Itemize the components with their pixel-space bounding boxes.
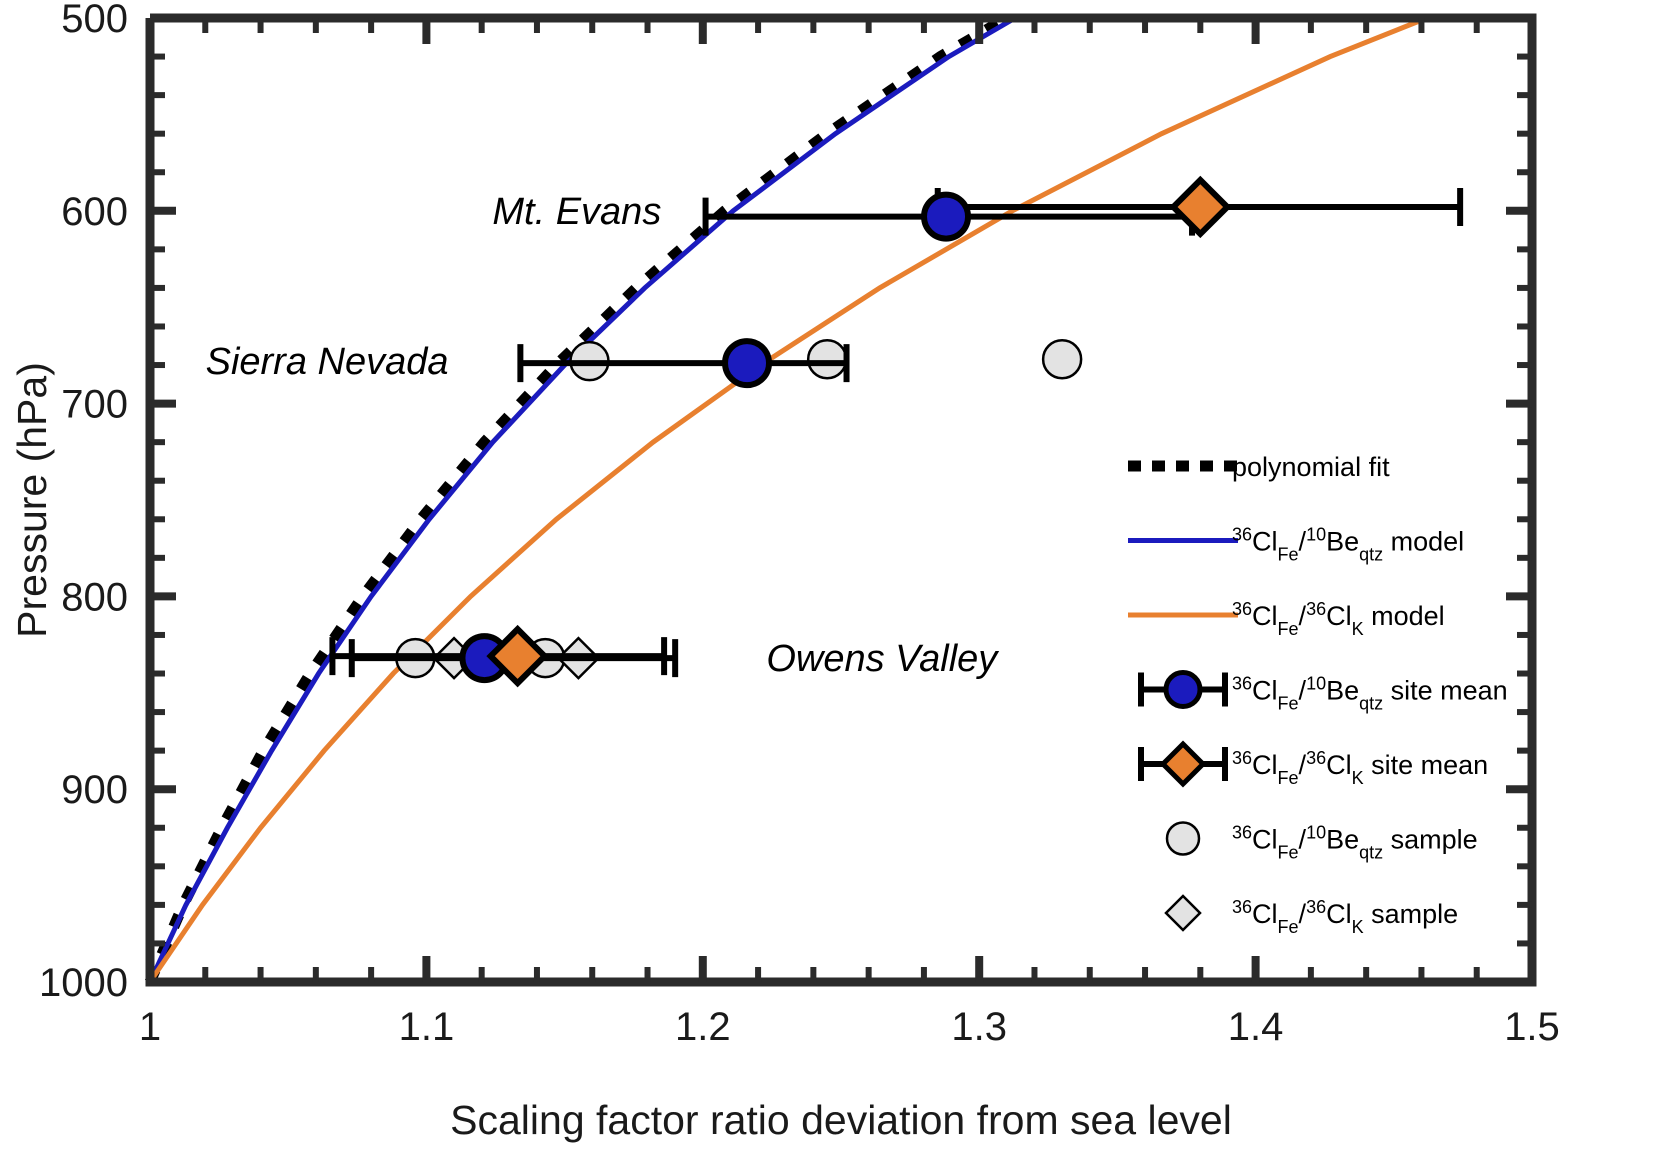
x-tick-label: 1.3 [951, 1005, 1007, 1049]
y-tick-label: 1000 [39, 961, 128, 1005]
legend-item-clfe-beqtz-sample[interactable]: 36ClFe/10Beqtz sample [1167, 823, 1478, 863]
site-label-owens-valley: Owens Valley [766, 638, 999, 680]
y-tick-label: 700 [61, 383, 128, 427]
y-tick-label: 800 [61, 575, 128, 619]
y-tick-label: 500 [61, 0, 128, 41]
legend-label-clfe-beqtz-model: 36ClFe/10Beqtz model [1232, 525, 1464, 565]
site-mean-diamond-marker[interactable] [1173, 180, 1227, 234]
figure-root: Mt. EvansSierra NevadaOwens Valley 50060… [0, 0, 1665, 1174]
site-mean-circle-marker[interactable] [924, 195, 968, 239]
y-axis-title: Pressure (hPa) [9, 362, 55, 638]
legend-item-polynomial-fit[interactable]: polynomial fit [1128, 452, 1390, 482]
legend-label-polynomial-fit: polynomial fit [1232, 452, 1390, 482]
x-tick-label: 1 [139, 1005, 161, 1049]
site-group-sierra-nevada: Sierra Nevada [206, 340, 1082, 385]
sample-circle-marker[interactable] [1043, 340, 1081, 378]
legend-item-clfe-clk-model[interactable]: 36ClFe/36ClK model [1128, 599, 1445, 639]
legend-label-clfe-beqtz-sample: 36ClFe/10Beqtz sample [1232, 823, 1478, 863]
legend-diamond-marker-icon[interactable] [1163, 744, 1203, 784]
legend-label-clfe-clk-model: 36ClFe/36ClK model [1232, 599, 1445, 639]
y-tick-label: 600 [61, 190, 128, 234]
x-tick-label: 1.4 [1228, 1005, 1284, 1049]
legend-item-clfe-beqtz-site-mean[interactable]: 36ClFe/10Beqtz site mean [1141, 673, 1508, 714]
site-label-mt-evans: Mt. Evans [492, 191, 661, 233]
scaling-factor-pressure-chart: Mt. EvansSierra NevadaOwens Valley 50060… [0, 0, 1665, 1174]
legend-item-clfe-beqtz-model[interactable]: 36ClFe/10Beqtz model [1128, 525, 1464, 565]
legend-label-clfe-beqtz-site-mean: 36ClFe/10Beqtz site mean [1232, 674, 1508, 714]
x-tick-label: 1.1 [399, 1005, 455, 1049]
legend[interactable]: polynomial fit36ClFe/10Beqtz model36ClFe… [1128, 452, 1508, 937]
legend-item-clfe-clk-sample[interactable]: 36ClFe/36ClK sample [1166, 896, 1458, 937]
x-tick-label: 1.2 [675, 1005, 731, 1049]
legend-sample-circle-icon[interactable] [1167, 823, 1199, 855]
legend-label-clfe-clk-site-mean: 36ClFe/36ClK site mean [1232, 748, 1488, 788]
sample-circle-marker[interactable] [808, 340, 846, 378]
site-mean-circle-marker[interactable] [725, 341, 769, 385]
legend-circle-marker-icon[interactable] [1166, 673, 1200, 707]
error-bar-sierra-nevada [520, 344, 846, 382]
x-axis-title: Scaling factor ratio deviation from sea … [450, 1097, 1232, 1143]
legend-label-clfe-clk-sample: 36ClFe/36ClK sample [1232, 897, 1458, 937]
y-tick-label: 900 [61, 768, 128, 812]
x-tick-label: 1.5 [1504, 1005, 1560, 1049]
legend-sample-diamond-icon[interactable] [1166, 896, 1200, 930]
site-label-sierra-nevada: Sierra Nevada [206, 341, 449, 383]
legend-item-clfe-clk-site-mean[interactable]: 36ClFe/36ClK site mean [1141, 744, 1488, 788]
